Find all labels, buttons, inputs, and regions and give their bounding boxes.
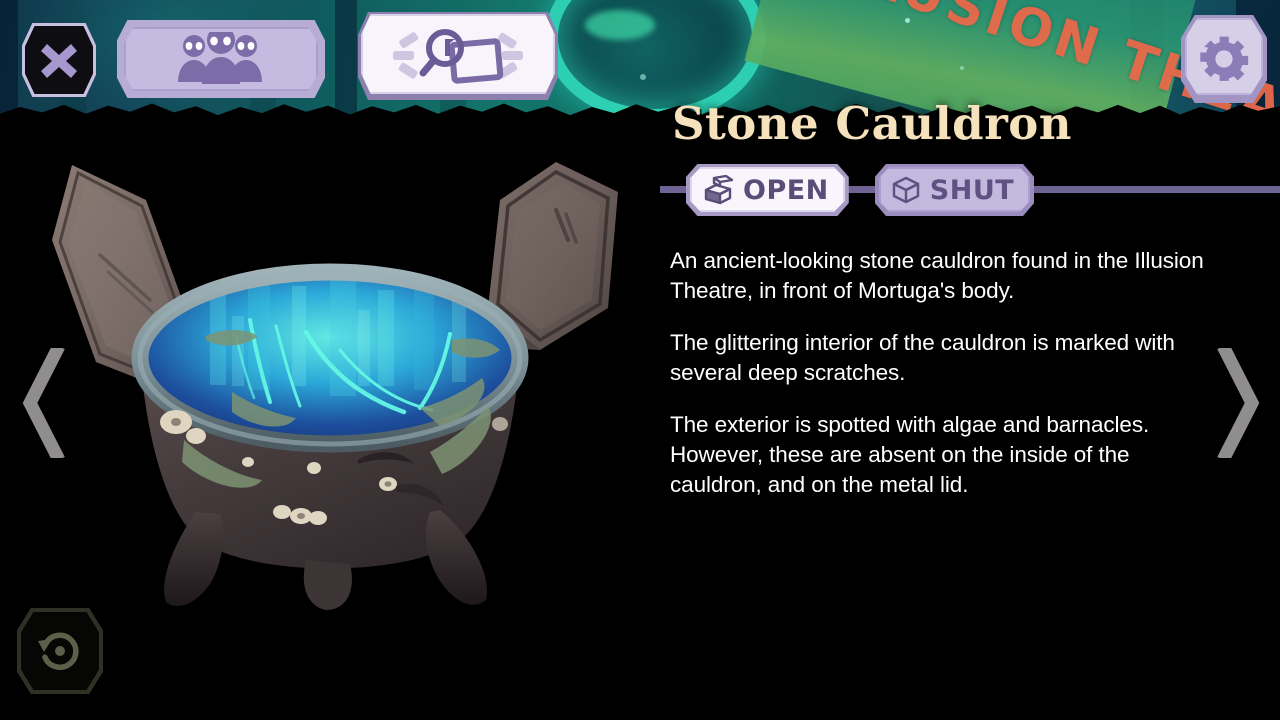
tab-open-label: OPEN bbox=[743, 175, 829, 206]
reset-view-button[interactable] bbox=[17, 608, 103, 694]
chevron-left-icon bbox=[22, 348, 68, 458]
open-box-icon bbox=[702, 175, 734, 205]
closed-box-icon bbox=[891, 175, 921, 205]
cauldron-body bbox=[140, 272, 520, 610]
settings-button[interactable] bbox=[1181, 15, 1267, 103]
game-screen: ILLUSION THEATRE bbox=[0, 0, 1280, 720]
description-paragraph: The glittering interior of the cauldron … bbox=[670, 328, 1215, 388]
page-title: Stone Cauldron bbox=[640, 100, 1280, 147]
three-people-icon bbox=[161, 32, 281, 86]
tab-open[interactable]: OPEN bbox=[686, 164, 849, 216]
previous-item-button[interactable] bbox=[22, 348, 68, 458]
evidence-button[interactable] bbox=[358, 12, 558, 100]
close-button[interactable] bbox=[17, 18, 101, 102]
next-item-button[interactable] bbox=[1214, 348, 1260, 458]
description-paragraph: The exterior is spotted with algae and b… bbox=[670, 410, 1215, 500]
chevron-right-icon bbox=[1214, 348, 1260, 458]
stone-cauldron-illustration bbox=[0, 140, 660, 610]
tab-shut-label: SHUT bbox=[930, 175, 1014, 206]
item-description: An ancient-looking stone cauldron found … bbox=[670, 246, 1215, 499]
cauldron-leg-center bbox=[304, 560, 352, 610]
cauldron-leg-left bbox=[164, 512, 223, 606]
close-x-icon bbox=[37, 38, 81, 82]
gear-icon bbox=[1198, 33, 1250, 85]
tab-shut[interactable]: SHUT bbox=[875, 164, 1034, 216]
reset-rotate-icon bbox=[32, 623, 88, 679]
description-paragraph: An ancient-looking stone cauldron found … bbox=[670, 246, 1215, 306]
characters-button[interactable] bbox=[117, 20, 325, 98]
portal-glow-decor bbox=[585, 10, 655, 40]
magnifier-evidence-icon bbox=[383, 25, 533, 87]
state-tabs: OPEN SHUT bbox=[686, 164, 1034, 216]
